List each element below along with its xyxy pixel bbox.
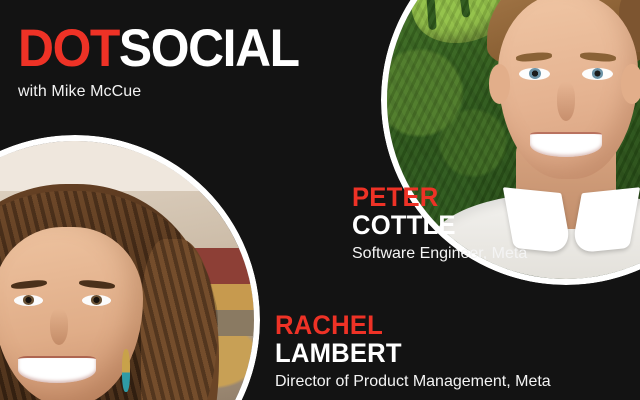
guest-last-name: LAMBERT — [275, 340, 537, 368]
show-title-dot: DOT — [18, 19, 119, 78]
guest-role: Software Engineer, Meta — [352, 245, 527, 263]
show-host-tagline: with Mike McCue — [18, 83, 317, 101]
show-title-social: SOCIAL — [119, 19, 299, 78]
guest-first-name: RACHEL — [275, 312, 537, 340]
guest-info-rachel: RACHEL LAMBERT Director of Product Manag… — [275, 312, 551, 391]
guest-last-name: COTTLE — [352, 212, 518, 240]
rachel-lambert-portrait — [0, 135, 260, 400]
guest-info-peter: PETER COTTLE Software Engineer, Meta — [352, 184, 527, 263]
guest-role: Director of Product Management, Meta — [275, 373, 551, 391]
show-title: DOTSOCIAL — [18, 24, 299, 74]
show-logo: DOTSOCIAL with Mike McCue — [18, 24, 317, 101]
podcast-episode-card: DOTSOCIAL with Mike McCue PETER COTTLE S… — [0, 0, 640, 400]
guest-first-name: PETER — [352, 184, 518, 212]
